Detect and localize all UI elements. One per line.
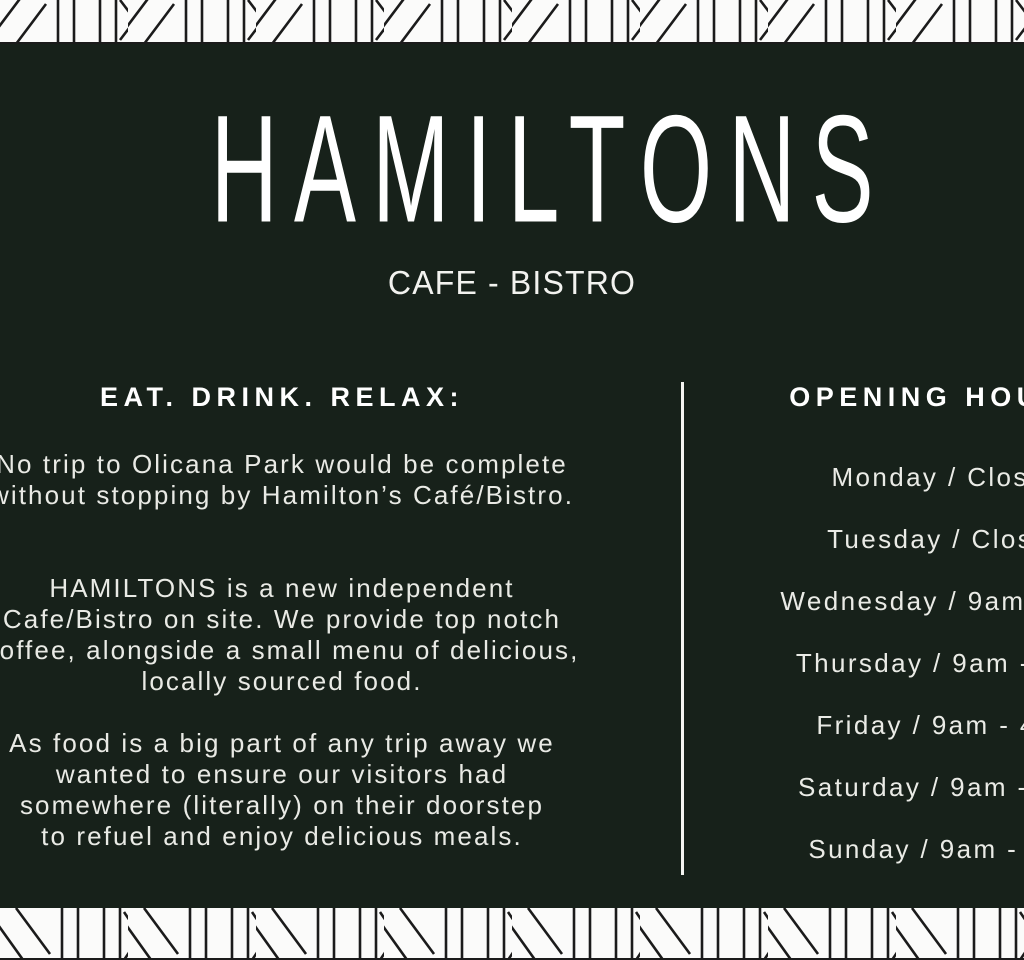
about-column: EAT. DRINK. RELAX: No trip to Olicana Pa…	[0, 382, 652, 852]
list-item: Thursday / 9am - 4pm	[712, 648, 1024, 679]
list-item: Friday / 9am - 4pm	[712, 710, 1024, 741]
page-title: HAMILTONS	[195, 92, 830, 245]
list-item: Sunday / 9am - 4pm	[712, 834, 1024, 865]
brand-subtitle: CAFE - BISTRO	[15, 264, 1008, 302]
opening-hours-column: OPENING HOURS: Monday / Closed Tuesday /…	[712, 382, 1024, 865]
bottom-border-band	[0, 908, 1024, 960]
list-item: Monday / Closed	[712, 462, 1024, 493]
content-columns: EAT. DRINK. RELAX: No trip to Olicana Pa…	[0, 382, 1024, 882]
list-item: Tuesday / Closed	[712, 524, 1024, 555]
top-border-band	[0, 0, 1024, 44]
about-paragraph: HAMILTONS is a new independent Cafe/Bist…	[0, 573, 652, 697]
opening-hours-list: Monday / Closed Tuesday / Closed Wednesd…	[712, 462, 1024, 865]
poster-canvas: HAMILTONS CAFE - BISTRO EAT. DRINK. RELA…	[0, 0, 1024, 960]
about-heading: EAT. DRINK. RELAX:	[0, 382, 652, 412]
about-paragraph: No trip to Olicana Park would be complet…	[0, 449, 652, 511]
brand-block: HAMILTONS CAFE - BISTRO	[0, 92, 1024, 302]
list-item: Wednesday / 9am - 4pm	[712, 586, 1024, 617]
opening-hours-heading: OPENING HOURS:	[712, 382, 1024, 412]
list-item: Saturday / 9am - 4pm	[712, 772, 1024, 803]
about-paragraph: As food is a big part of any trip away w…	[0, 728, 652, 852]
column-divider	[681, 382, 684, 875]
